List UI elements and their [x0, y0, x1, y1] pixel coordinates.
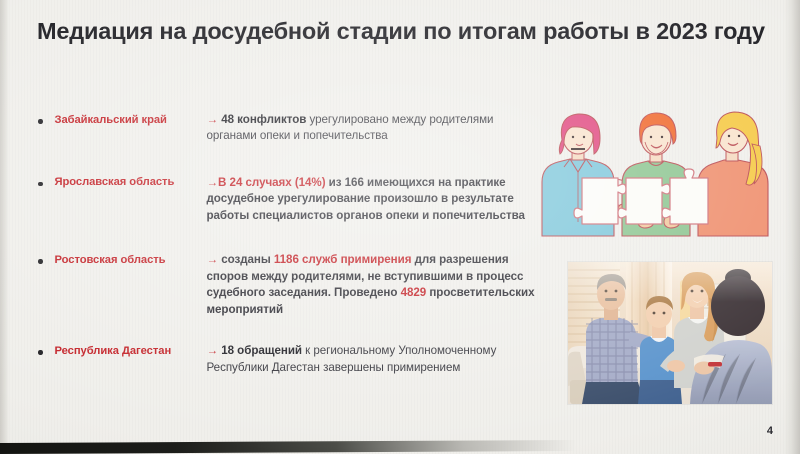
arrow-icon: →	[207, 113, 219, 126]
bullet-dot-icon	[38, 259, 43, 264]
arrow-icon: →	[207, 253, 219, 266]
bullet-dot-icon	[38, 119, 43, 124]
region-detail: → 18 обращений к региональному Уполномоч…	[207, 343, 539, 376]
family-mediation-photo	[568, 262, 772, 404]
presentation-slide: Медиация на досудебной стадии по итогам …	[0, 0, 800, 454]
list-item: Ростовская область → созданы 1186 служб …	[38, 252, 538, 318]
bullet-dot-icon	[38, 350, 43, 355]
detail-highlight: 48 конфликтов	[221, 113, 306, 126]
region-detail: →В 24 случаях (14%) из 166 имеющихся на …	[207, 175, 539, 224]
screen-edge-left	[0, 0, 9, 454]
three-people-puzzle-illustration	[524, 104, 786, 242]
detail-highlight: 1186 служб примирения	[274, 253, 412, 266]
list-item: Забайкальский край → 48 конфликтов урегу…	[38, 112, 538, 145]
regions-list: Забайкальский край → 48 конфликтов урегу…	[38, 112, 538, 376]
bullet-dot-icon	[38, 182, 43, 187]
detail-highlight: 4829	[401, 286, 427, 299]
arrow-icon: →	[207, 344, 219, 357]
detail-highlight: В 24 случаях (14%)	[218, 176, 325, 189]
page-title: Медиация на досудебной стадии по итогам …	[37, 18, 767, 46]
list-item: Республика Дагестан → 18 обращений к рег…	[38, 343, 538, 376]
screen-edge-right	[784, 0, 800, 454]
region-detail: → созданы 1186 служб примирения для разр…	[207, 252, 539, 318]
detail-highlight: 18 обращений	[221, 344, 302, 357]
region-name: Республика Дагестан	[55, 343, 207, 359]
list-item: Ярославская область →В 24 случаях (14%) …	[38, 175, 538, 224]
screen-edge-bottom	[0, 439, 800, 454]
region-name: Ростовская область	[55, 252, 207, 268]
arrow-icon: →	[207, 176, 219, 189]
region-name: Забайкальский край	[55, 112, 207, 128]
region-name: Ярославская область	[55, 175, 207, 191]
page-number: 4	[767, 425, 773, 437]
region-detail: → 48 конфликтов урегулировано между роди…	[207, 112, 539, 145]
detail-text: созданы	[218, 253, 274, 266]
